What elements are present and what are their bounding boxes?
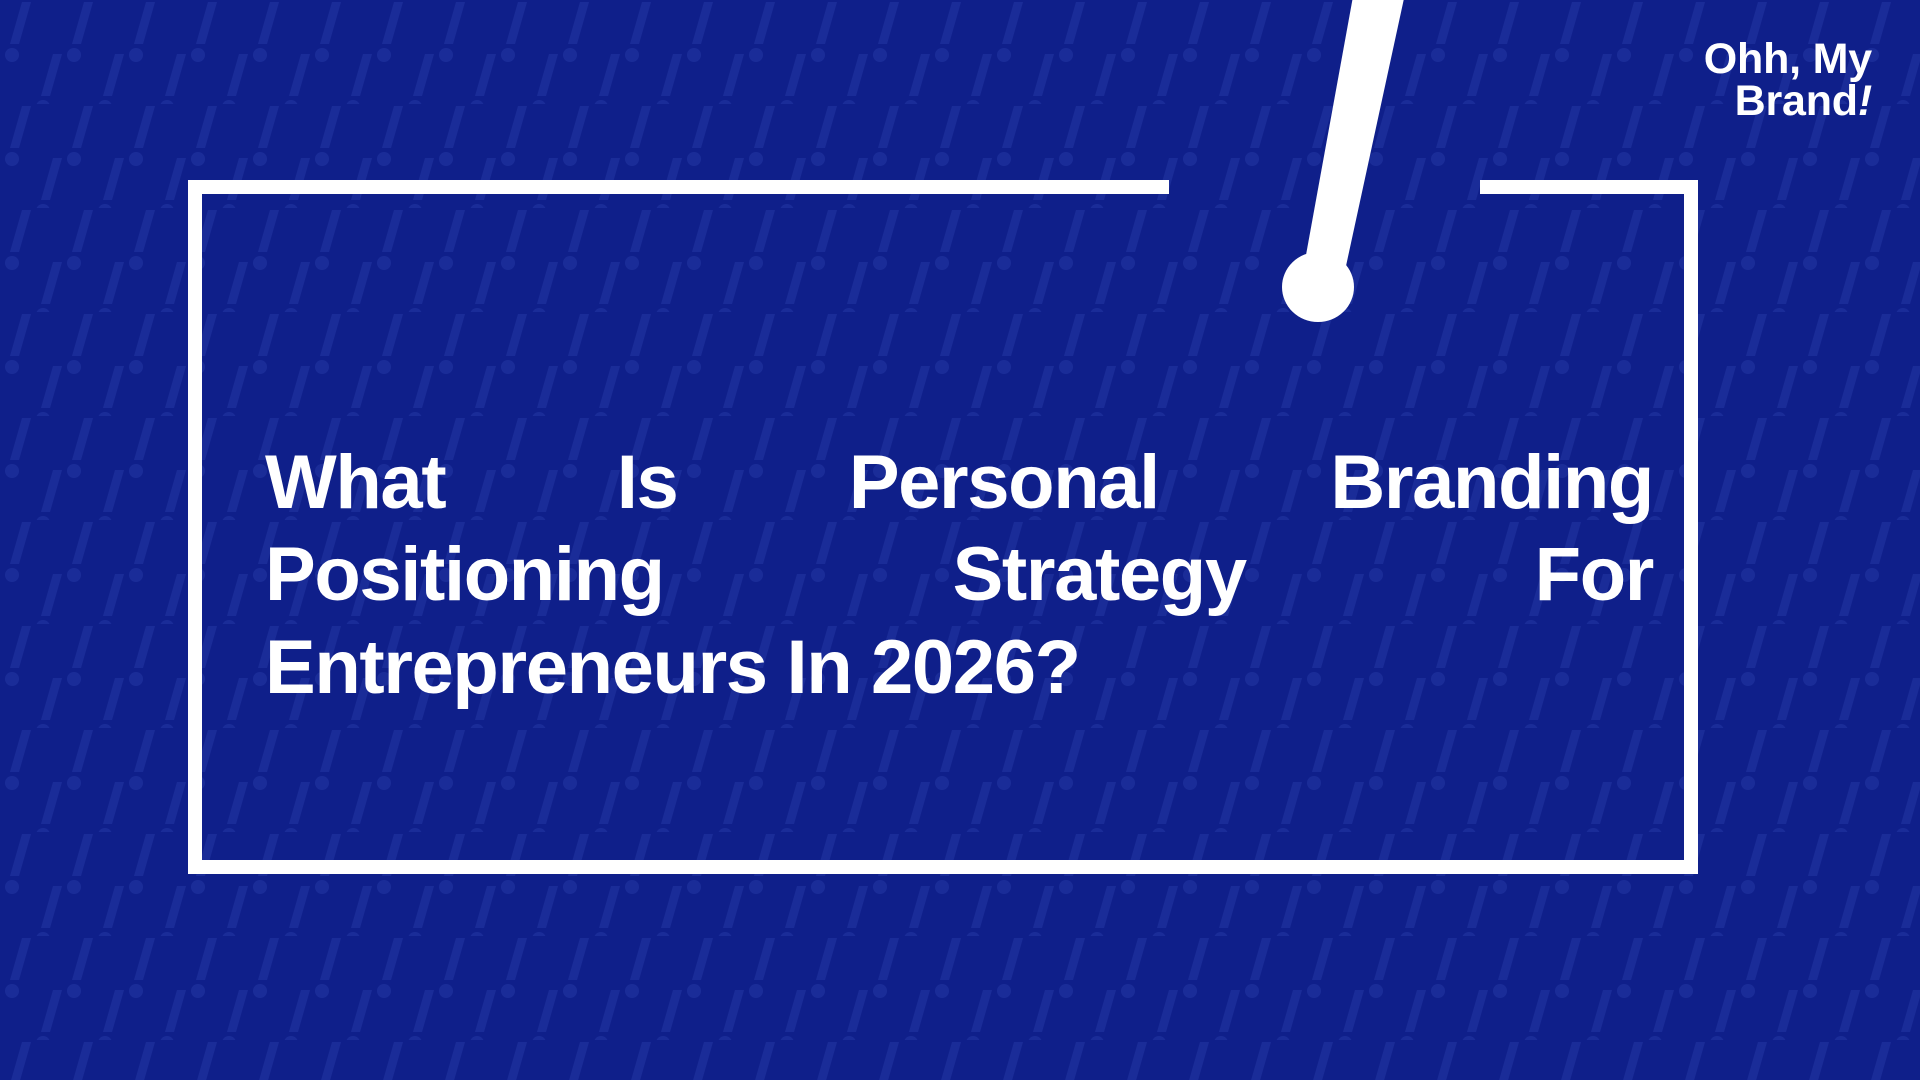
page-title: What Is Personal Branding Positioning St… (265, 437, 1653, 714)
title-card: Ohh, My Brand! What Is Personal Branding… (0, 0, 1920, 1080)
title-text: What Is Personal Branding Positioning St… (265, 437, 1653, 714)
brand-logo-exclamation-icon: ! (1858, 77, 1872, 125)
frame-left-edge (188, 180, 202, 874)
title-line-3: Entrepreneurs In 2026? (265, 622, 1653, 714)
title-line-2: Positioning Strategy For (265, 529, 1653, 621)
frame-right-edge (1684, 180, 1698, 874)
brand-logo-word-brand: Brand (1735, 77, 1858, 125)
brand-logo-line-2: Brand! (1702, 80, 1872, 122)
brand-logo-line-1: Ohh, My (1702, 38, 1872, 80)
exclamation-mark-icon (1240, 0, 1460, 360)
frame-bottom-edge (188, 860, 1698, 874)
frame-top-right-segment (1480, 180, 1698, 194)
frame-top-left-segment (188, 180, 1169, 194)
title-line-1: What Is Personal Branding (265, 437, 1653, 529)
brand-logo[interactable]: Ohh, My Brand! (1702, 38, 1872, 122)
